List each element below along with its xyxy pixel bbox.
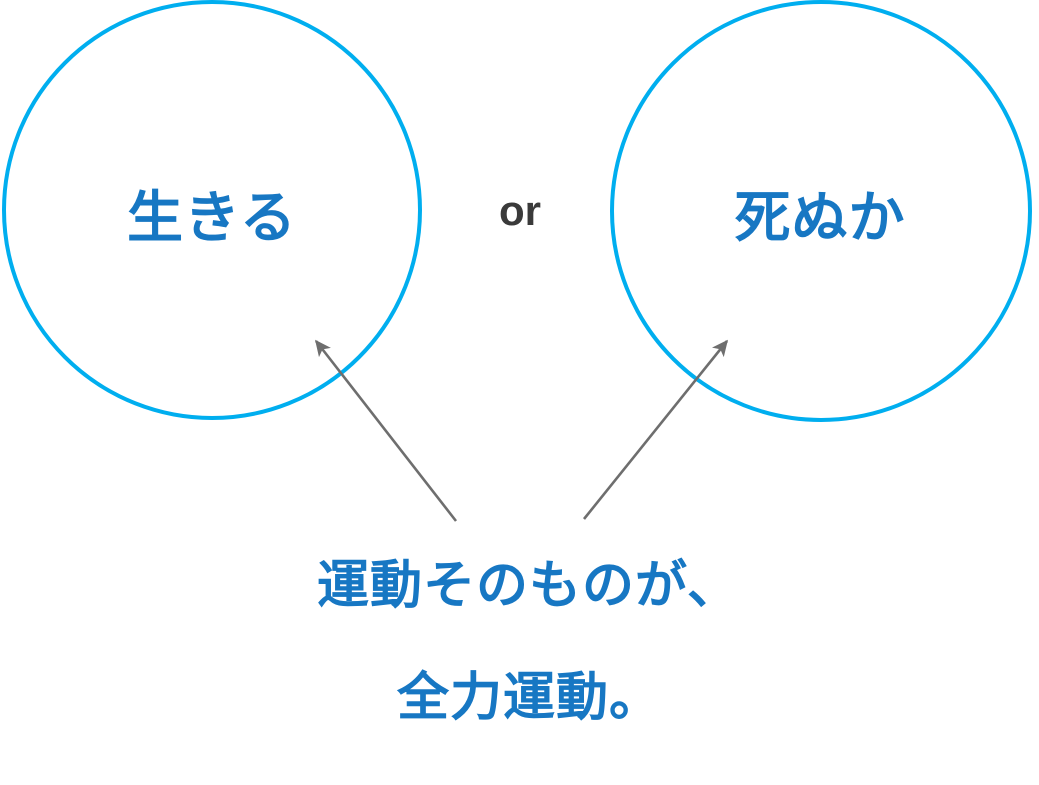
caption-block: 運動そのものが、 全力運動。	[0, 560, 1039, 724]
or-connector-label: or	[455, 190, 585, 232]
caption-line-2: 全力運動。	[0, 672, 1039, 724]
circle-live-label: 生きる	[0, 190, 424, 246]
caption-line-1: 運動そのものが、	[0, 560, 1039, 612]
slide-canvas: 生きる 死ぬか or 運動そのものが、 全力運動。	[0, 0, 1039, 785]
circle-die-label: 死ぬか	[608, 190, 1032, 246]
